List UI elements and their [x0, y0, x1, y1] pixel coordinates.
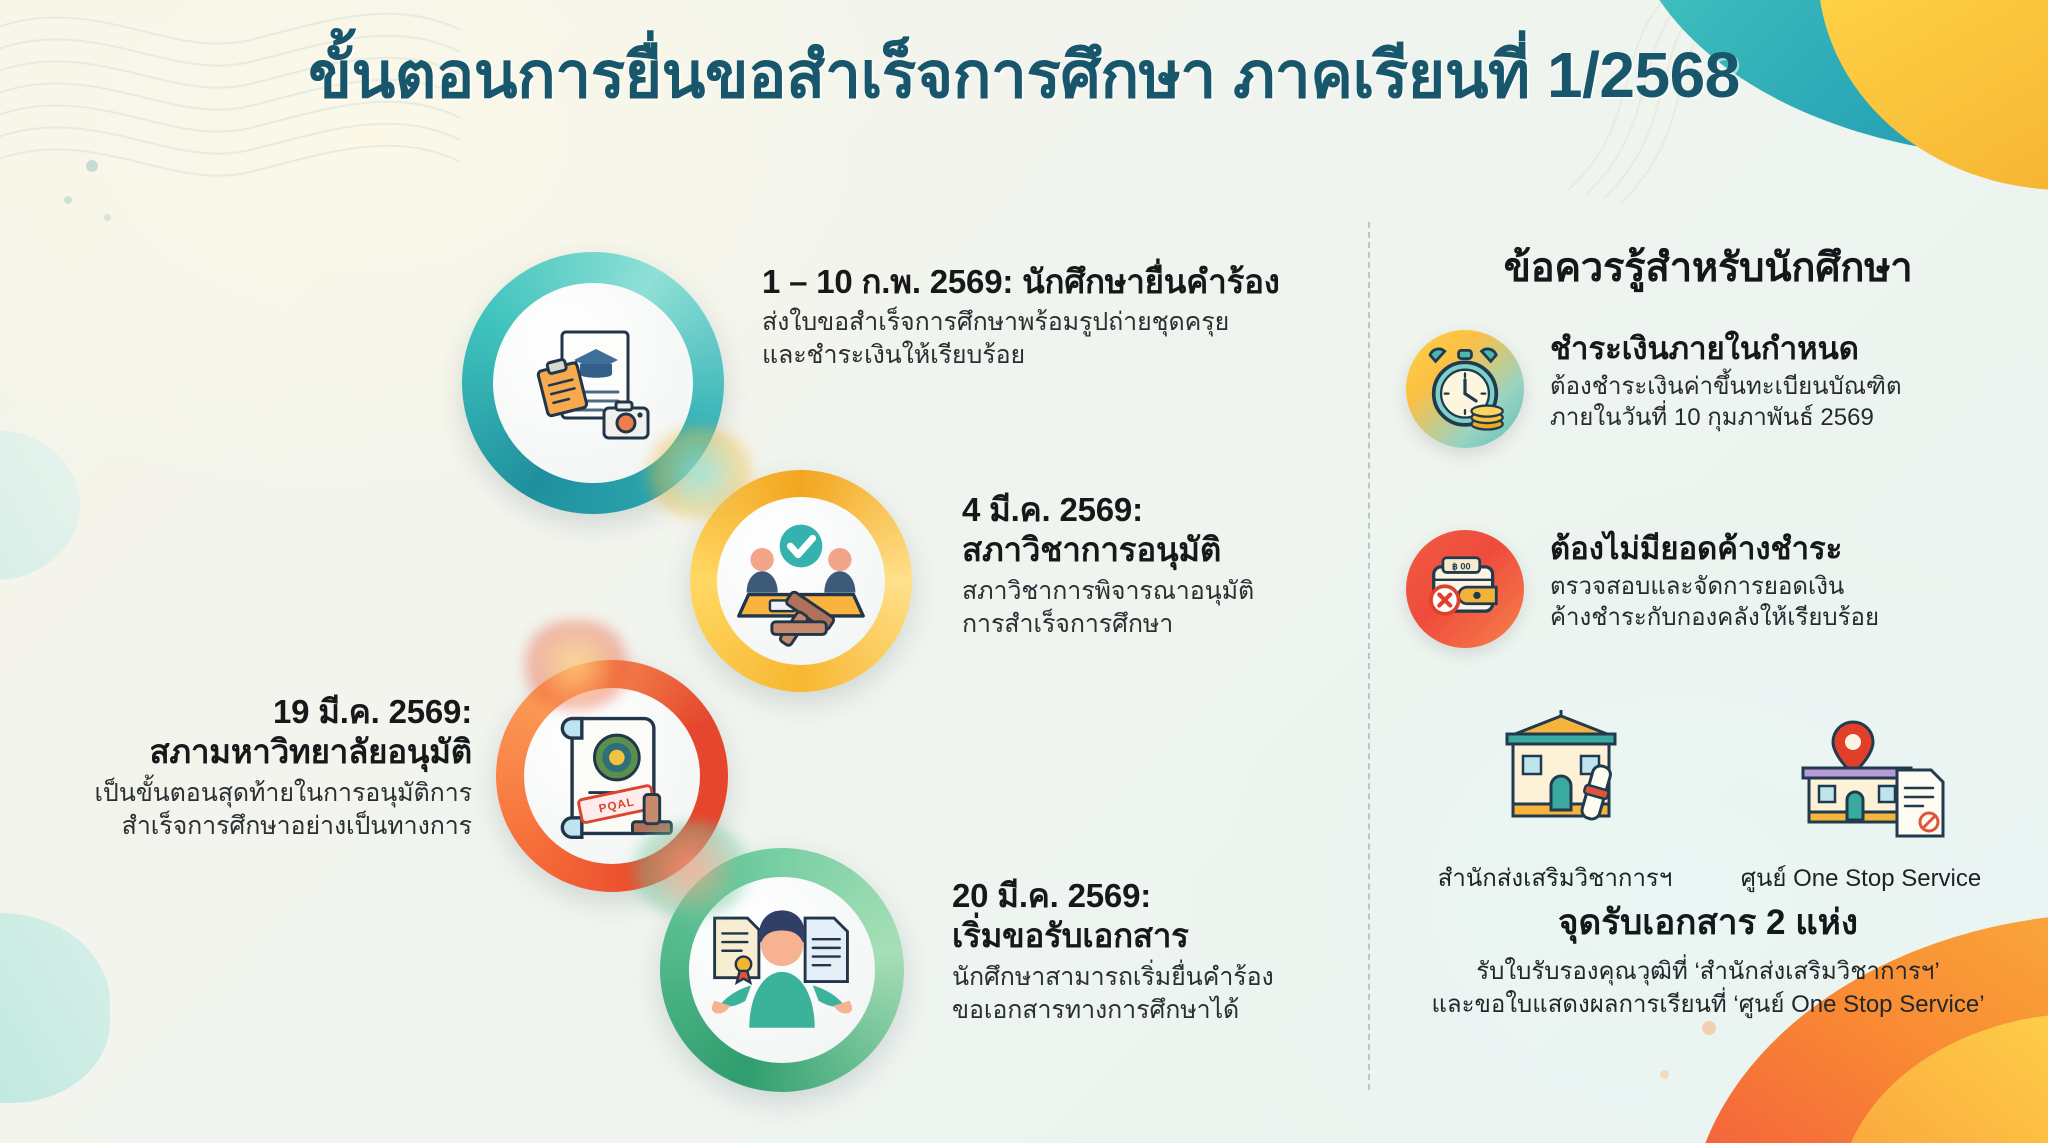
- step-2-heading-line-2: สภาวิชาการอนุมัติ: [962, 530, 1362, 570]
- pickup-places: สำนักส่งเสริมวิชาการฯ: [1368, 700, 2048, 897]
- step-2-desc-line-1: สภาวิชาการพิจารณาอนุมัติ: [962, 575, 1362, 608]
- pickup-desc-line-1: รับใบรับรองคุณวุฒิที่ ‘สำนักส่งเสริมวิชา…: [1368, 956, 2048, 989]
- committee-approval-gavel-icon: [733, 513, 869, 649]
- note-no-outstanding-text: ต้องไม่มียอดค้างชำระ ตรวจสอบและจัดการยอด…: [1550, 530, 1879, 634]
- note-payment-heading: ชำระเงินภายในกำหนด: [1550, 330, 1902, 368]
- step-2-desc-line-2: การสำเร็จการศึกษา: [962, 608, 1362, 641]
- building-map-pin-document-icon: [1736, 700, 1986, 848]
- note-payment: ชำระเงินภายในกำหนด ต้องชำระเงินค่าขึ้นทะ…: [1406, 330, 2026, 448]
- note-no-outstanding: ฿ 00 ต้องไม่มียอดค้างชำระ ตรวจสอบและจัดก…: [1406, 530, 2026, 648]
- place-one-stop-label: ศูนย์ One Stop Service: [1736, 858, 1986, 897]
- wallet-error-icon: ฿ 00: [1406, 530, 1524, 648]
- school-building-diploma-icon: [1430, 700, 1680, 848]
- note-payment-text: ชำระเงินภายในกำหนด ต้องชำระเงินค่าขึ้นทะ…: [1550, 330, 1902, 434]
- place-one-stop[interactable]: ศูนย์ One Stop Service: [1736, 700, 1986, 897]
- step-3-desc-line-1: เป็นขั้นตอนสุดท้ายในการอนุมัติการ: [30, 777, 472, 810]
- step-4-heading-line-1: 20 มี.ค. 2569:: [952, 876, 1362, 916]
- timeline-section: 1 – 10 ก.พ. 2569: นักศึกษายื่นคำร้อง ส่ง…: [0, 0, 1368, 1143]
- note-no-outstanding-desc-line-2: ค้างชำระกับกองคลังให้เรียบร้อย: [1550, 602, 1879, 634]
- note-no-outstanding-heading: ต้องไม่มียอดค้างชำระ: [1550, 530, 1879, 568]
- alarm-clock-coins-icon: [1406, 330, 1524, 448]
- svg-text:฿ 00: ฿ 00: [1452, 562, 1471, 572]
- student-documents-icon: [705, 893, 859, 1047]
- step-2-icon-well: [717, 497, 885, 665]
- step-1-heading: 1 – 10 ก.พ. 2569: นักศึกษายื่นคำร้อง: [762, 262, 1342, 302]
- place-academic-office[interactable]: สำนักส่งเสริมวิชาการฯ: [1430, 700, 1680, 897]
- step-2-text: 4 มี.ค. 2569: สภาวิชาการอนุมัติ สภาวิชาก…: [962, 490, 1362, 641]
- connector-glow-1-2: [640, 428, 760, 518]
- step-1-desc-line-1: ส่งใบขอสำเร็จการศึกษาพร้อมรูปถ่ายชุดครุย: [762, 306, 1342, 339]
- step-2-heading-line-1: 4 มี.ค. 2569:: [962, 490, 1362, 530]
- sidebar-title: ข้อควรรู้สำหรับนักศึกษา: [1368, 235, 2048, 299]
- infographic-canvas: ขั้นตอนการยื่นขอสำเร็จการศึกษา ภาคเรียนท…: [0, 0, 2048, 1143]
- step-4-desc-line-1: นักศึกษาสามารถเริ่มยื่นคำร้อง: [952, 961, 1362, 994]
- graduation-document-camera-icon: [518, 308, 668, 458]
- step-4-desc-line-2: ขอเอกสารทางการศึกษาได้: [952, 994, 1362, 1027]
- step-3-text: 19 มี.ค. 2569: สภามหาวิทยาลัยอนุมัติ เป็…: [30, 692, 472, 843]
- pickup-desc-line-2: และขอใบแสดงผลการเรียนที่ ‘ศูนย์ One Stop…: [1368, 989, 2048, 1022]
- connector-glow-3-4: [626, 822, 756, 917]
- step-4-heading-line-2: เริ่มขอรับเอกสาร: [952, 916, 1362, 956]
- connector-glow-2-3: [516, 620, 636, 710]
- note-no-outstanding-desc-line-1: ตรวจสอบและจัดการยอดเงิน: [1550, 571, 1879, 603]
- note-payment-desc-line-1: ต้องชำระเงินค่าขึ้นทะเบียนบัณฑิต: [1550, 371, 1902, 403]
- pickup-summary: จุดรับเอกสาร 2 แห่ง รับใบรับรองคุณวุฒิที…: [1368, 895, 2048, 1021]
- step-4-text: 20 มี.ค. 2569: เริ่มขอรับเอกสาร นักศึกษา…: [952, 876, 1362, 1027]
- note-payment-desc-line-2: ภายในวันที่ 10 กุมภาพันธ์ 2569: [1550, 402, 1902, 434]
- step-3-desc-line-2: สำเร็จการศึกษาอย่างเป็นทางการ: [30, 810, 472, 843]
- step-1-text: 1 – 10 ก.พ. 2569: นักศึกษายื่นคำร้อง ส่ง…: [762, 262, 1342, 372]
- pickup-heading: จุดรับเอกสาร 2 แห่ง: [1368, 895, 2048, 950]
- step-3-heading-line-1: 19 มี.ค. 2569:: [30, 692, 472, 732]
- student-notes-section: ข้อควรรู้สำหรับนักศึกษา: [1368, 0, 2048, 1143]
- page-title: ขั้นตอนการยื่นขอสำเร็จการศึกษา ภาคเรียนท…: [0, 24, 2048, 126]
- step-1-desc-line-2: และชำระเงินให้เรียบร้อย: [762, 339, 1342, 372]
- step-3-heading-line-2: สภามหาวิทยาลัยอนุมัติ: [30, 732, 472, 772]
- place-academic-office-label: สำนักส่งเสริมวิชาการฯ: [1430, 858, 1680, 897]
